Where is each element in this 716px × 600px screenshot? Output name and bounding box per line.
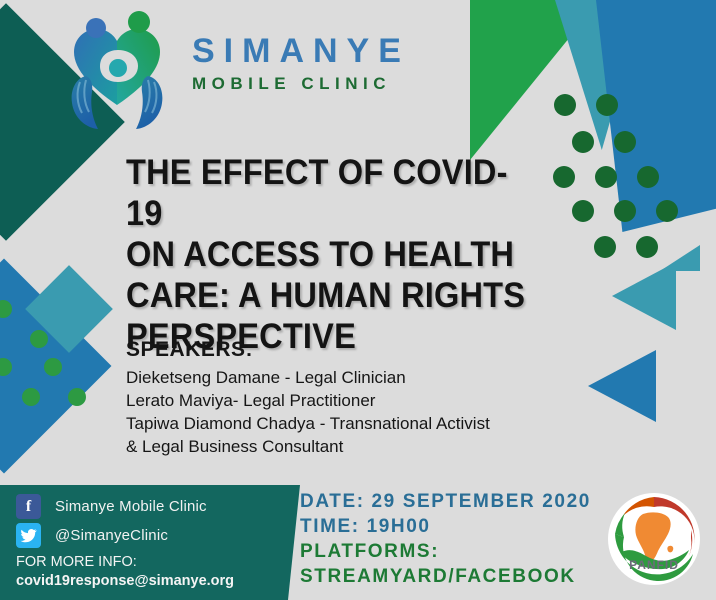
panfid-logo-icon: PANFID: [605, 490, 703, 588]
brand-text: SIMANYE MOBILE CLINIC: [192, 34, 410, 92]
headline-line: THE EFFECT OF COVID-19: [126, 152, 526, 234]
more-info-heading: FOR MORE INFO:: [16, 553, 234, 572]
contact-email[interactable]: covid19response@simanye.org: [16, 572, 234, 591]
headline-line: ON ACCESS TO HEALTH: [126, 234, 526, 275]
twitter-handle: @SimanyeClinic: [55, 527, 168, 544]
speaker-item: Tapiwa Diamond Chadya - Transnational Ac…: [126, 412, 596, 435]
brand-tagline: MOBILE CLINIC: [192, 75, 410, 92]
speaker-item: & Legal Business Consultant: [126, 435, 596, 458]
platforms-value: STREAMYARD/FACEBOOK: [300, 564, 591, 589]
platforms-label: PLATFORMS:: [300, 539, 591, 564]
headline-line: CARE: A HUMAN RIGHTS: [126, 275, 526, 316]
speaker-item: Dieketseng Damane - Legal Clinician: [126, 366, 596, 389]
twitter-icon[interactable]: [16, 523, 41, 548]
twitter-row[interactable]: @SimanyeClinic: [16, 523, 168, 548]
more-info-block: FOR MORE INFO: covid19response@simanye.o…: [16, 553, 234, 591]
event-details: DATE: 29 SEPTEMBER 2020 TIME: 19H00 PLAT…: [300, 489, 591, 589]
svg-text:PANFID: PANFID: [629, 558, 679, 572]
poster-canvas: SIMANYE MOBILE CLINIC THE EFFECT OF COVI…: [0, 0, 716, 600]
speaker-item: Lerato Maviya- Legal Practitioner: [126, 389, 596, 412]
speakers-heading: SPEAKERS:: [126, 338, 596, 362]
teal-small-wedge: [660, 245, 700, 271]
blue-corner-triangle: [596, 0, 716, 232]
facebook-label: Simanye Mobile Clinic: [55, 498, 207, 515]
event-time: TIME: 19H00: [300, 514, 591, 539]
blue-left-arrow: [588, 350, 656, 422]
event-date: DATE: 29 SEPTEMBER 2020: [300, 489, 591, 514]
heart-hands-logo-icon: [52, 8, 182, 133]
facebook-icon[interactable]: f: [16, 494, 41, 519]
page-title: THE EFFECT OF COVID-19 ON ACCESS TO HEAL…: [126, 152, 526, 357]
teal-left-arrow: [612, 262, 676, 330]
brand-name: SIMANYE: [192, 34, 410, 68]
facebook-row[interactable]: f Simanye Mobile Clinic: [16, 494, 207, 519]
brand-lockup: SIMANYE MOBILE CLINIC: [52, 8, 552, 133]
speakers-section: SPEAKERS: Dieketseng Damane - Legal Clin…: [126, 338, 596, 458]
